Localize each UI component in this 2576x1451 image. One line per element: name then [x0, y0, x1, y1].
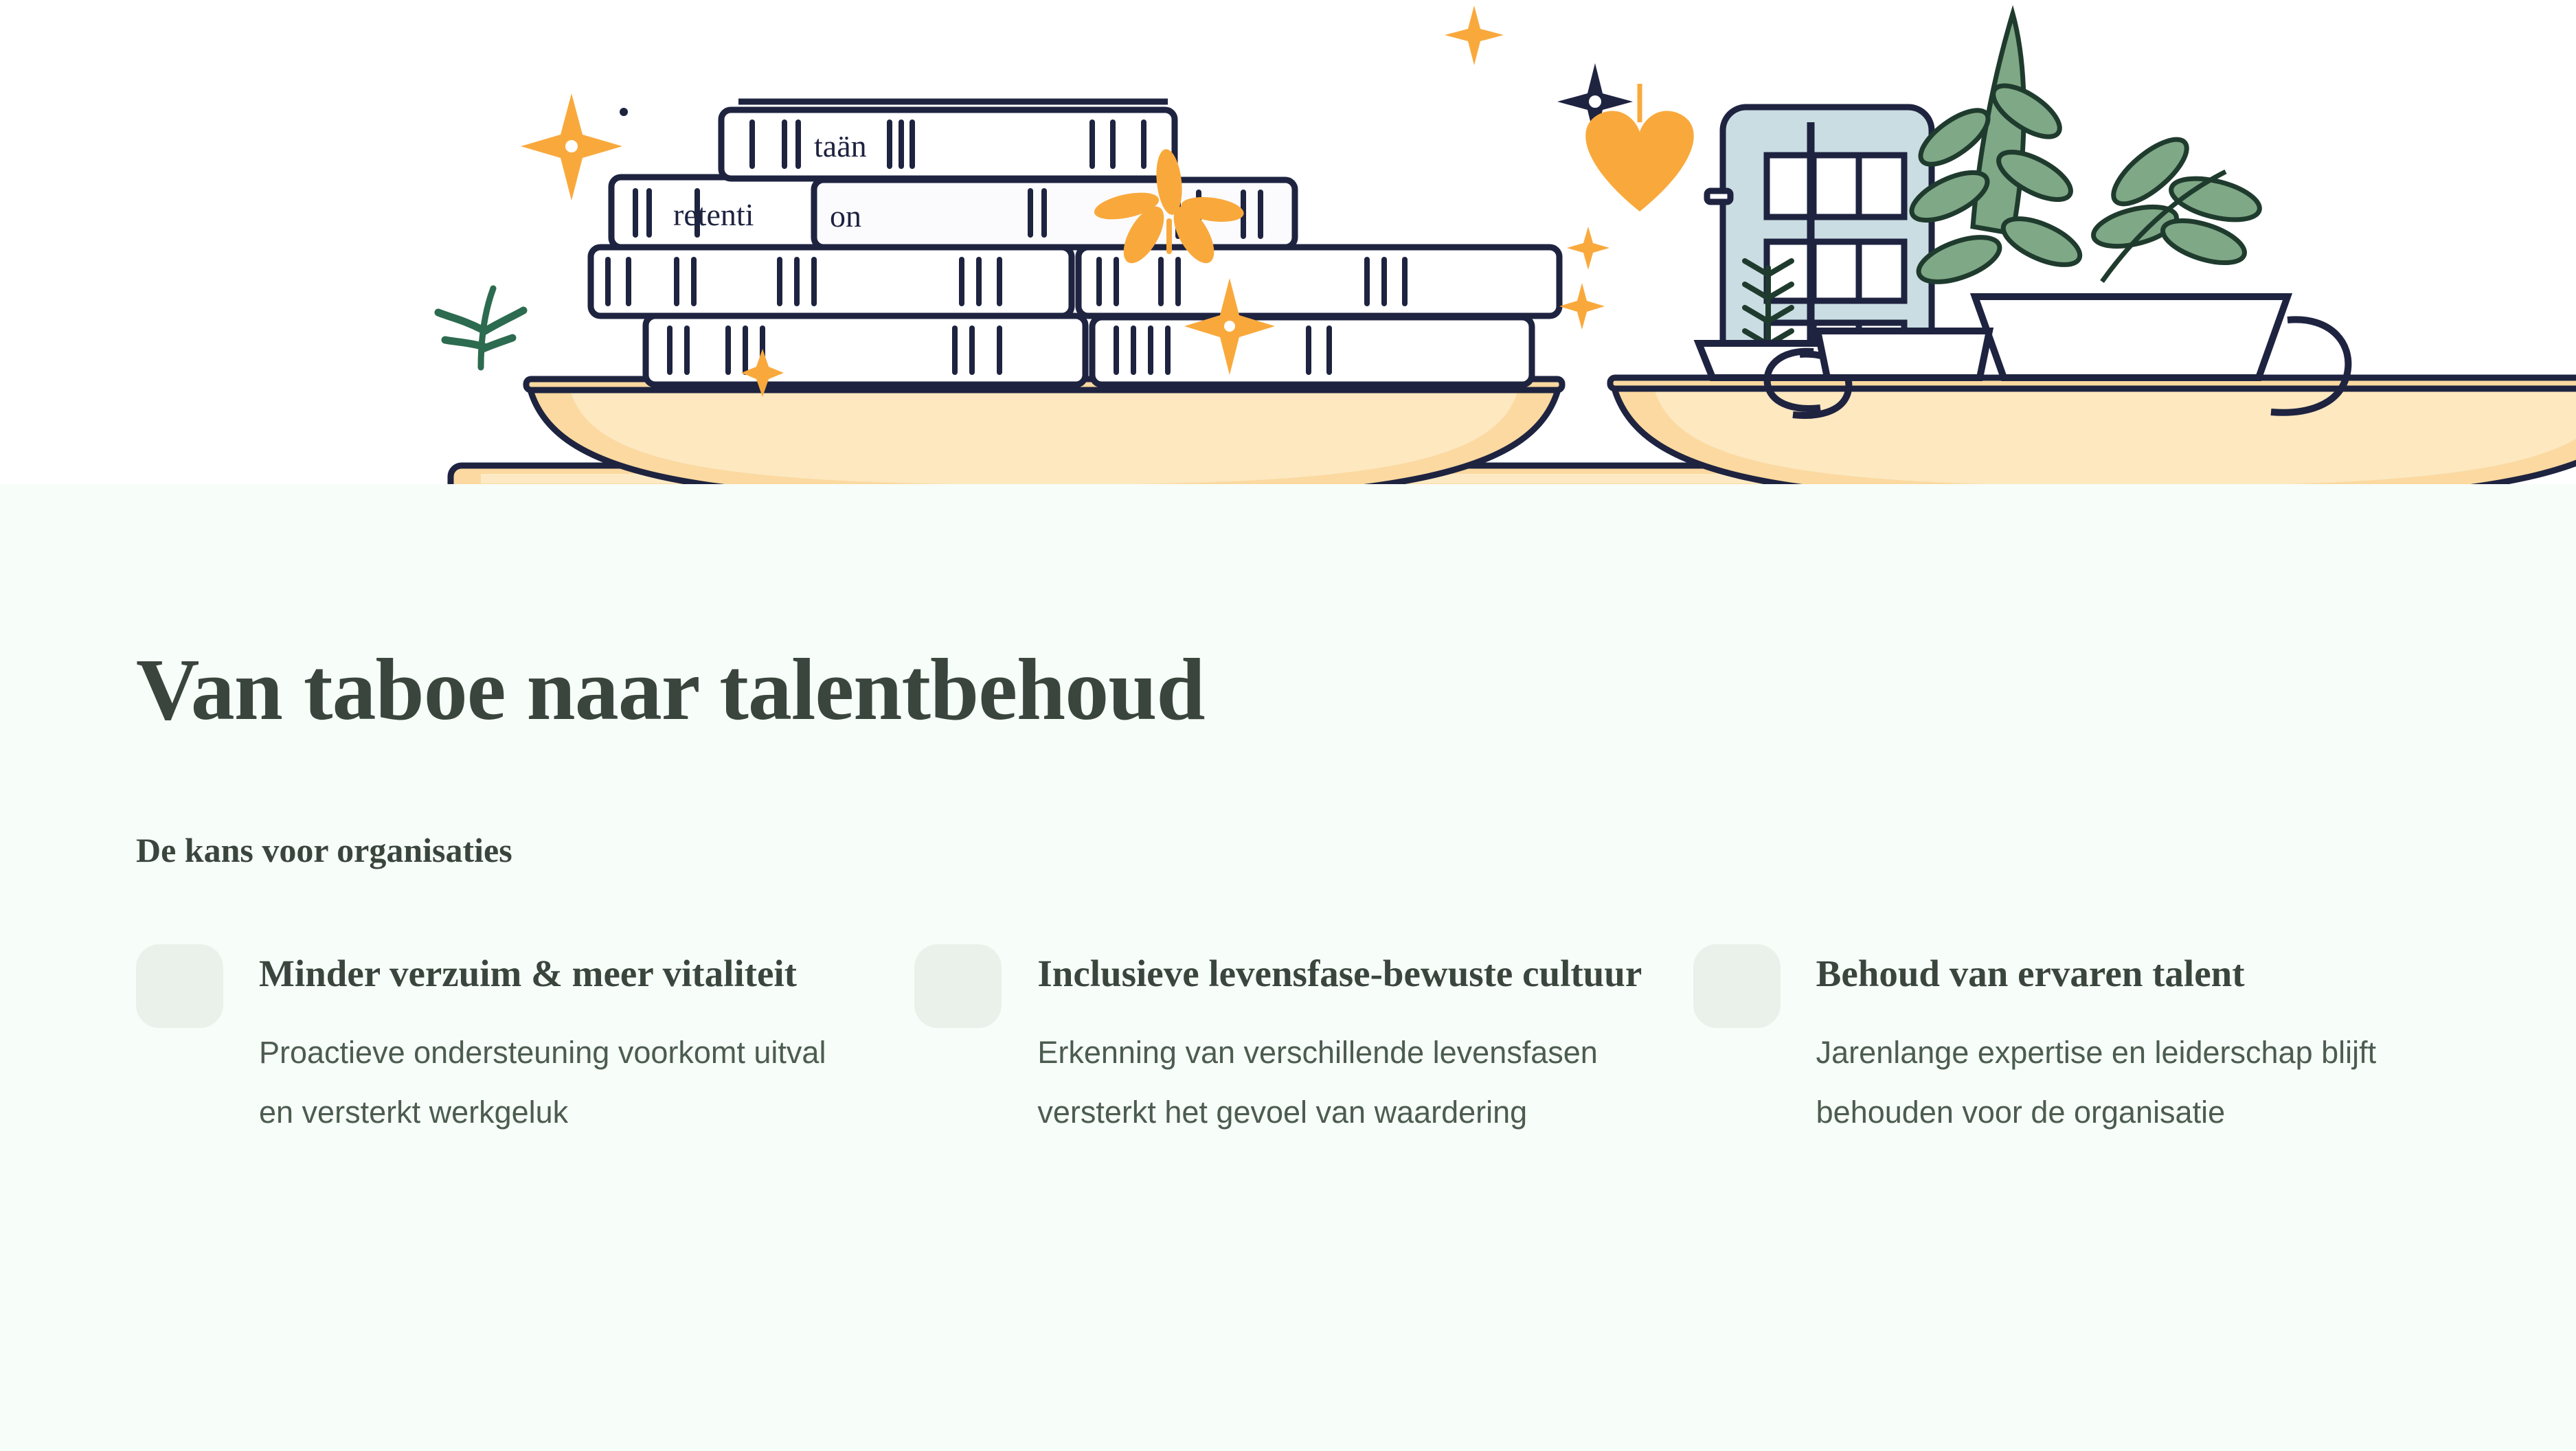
svg-text:on: on [830, 198, 861, 233]
benefit-description: Proactieve ondersteuning voorkomt uitval… [259, 1023, 863, 1142]
benefit-item-3: Behoud van ervaren talent Jarenlange exp… [1693, 944, 2472, 1142]
placeholder-icon [136, 944, 223, 1028]
page-title: Van taboe naar talentbehoud [136, 645, 1205, 733]
benefit-item-1: Minder verzuim & meer vitaliteit Proacti… [136, 944, 914, 1142]
page-root: taän retenti on [0, 0, 2576, 1451]
benefit-title: Behoud van ervaren talent [1816, 948, 2421, 998]
benefit-description: Erkenning van verschillende levensfasen … [1037, 1023, 1642, 1142]
benefit-body: Inclusieve levensfase-bewuste cultuur Er… [1037, 944, 1659, 1142]
placeholder-icon [1693, 944, 1781, 1028]
benefit-item-2: Inclusieve levensfase-bewuste cultuur Er… [914, 944, 1693, 1142]
placeholder-icon [914, 944, 1002, 1028]
section-subtitle: De kans voor organisaties [136, 833, 512, 867]
dot-navy [620, 108, 628, 116]
balance-scale-illustration: taän retenti on [0, 0, 2576, 484]
hero-illustration-band: taän retenti on [0, 0, 2576, 484]
benefit-body: Minder verzuim & meer vitaliteit Proacti… [259, 944, 881, 1142]
left-scale-pan [526, 376, 1562, 484]
benefit-description: Jarenlange expertise en leiderschap blij… [1816, 1023, 2421, 1142]
right-scale-pan [1610, 378, 2576, 484]
benefits-list: Minder verzuim & meer vitaliteit Proacti… [136, 944, 2472, 1142]
svg-text:taän: taän [814, 128, 867, 163]
benefit-title: Inclusieve levensfase-bewuste cultuur [1037, 948, 1642, 998]
svg-text:retenti: retenti [673, 197, 754, 232]
benefit-title: Minder verzuim & meer vitaliteit [259, 948, 863, 998]
benefit-body: Behoud van ervaren talent Jarenlange exp… [1816, 944, 2438, 1142]
